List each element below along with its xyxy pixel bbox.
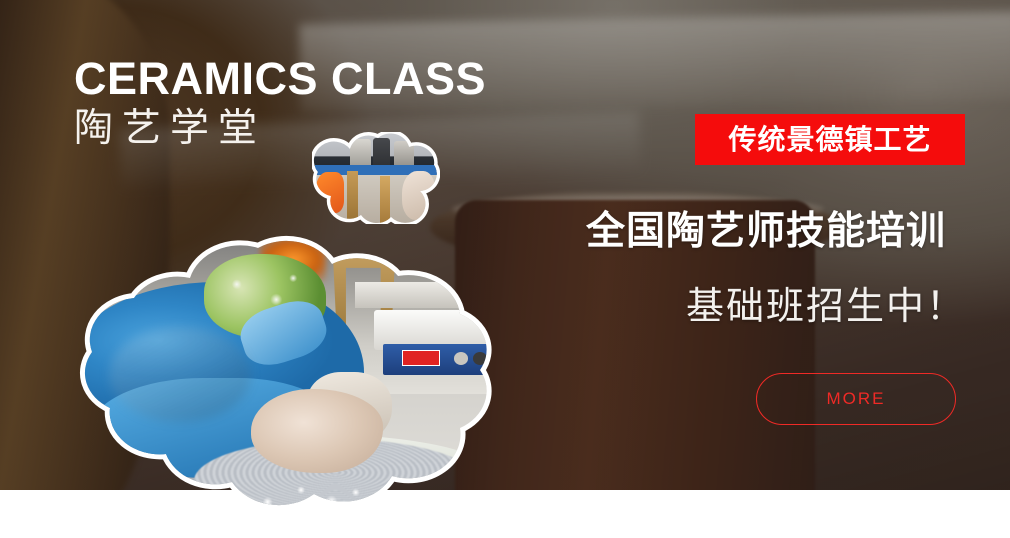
status-badge-label: 传统景德镇工艺 (728, 126, 931, 154)
page-title-english: CERAMICS CLASS (74, 56, 486, 102)
more-button-label: MORE (827, 389, 886, 409)
status-badge: 传统景德镇工艺 (695, 114, 965, 165)
cloud-photo-small (312, 132, 440, 224)
child-pottery-wheel-photo (62, 232, 534, 512)
ceramics-class-banner: CERAMICS CLASS 陶艺学堂 (0, 0, 1010, 538)
more-button[interactable]: MORE (756, 373, 956, 425)
cloud-photo-large (62, 232, 534, 512)
headline-primary: 全国陶艺师技能培训 (566, 200, 966, 256)
headline-secondary: 基础班招生中！ (566, 275, 966, 330)
